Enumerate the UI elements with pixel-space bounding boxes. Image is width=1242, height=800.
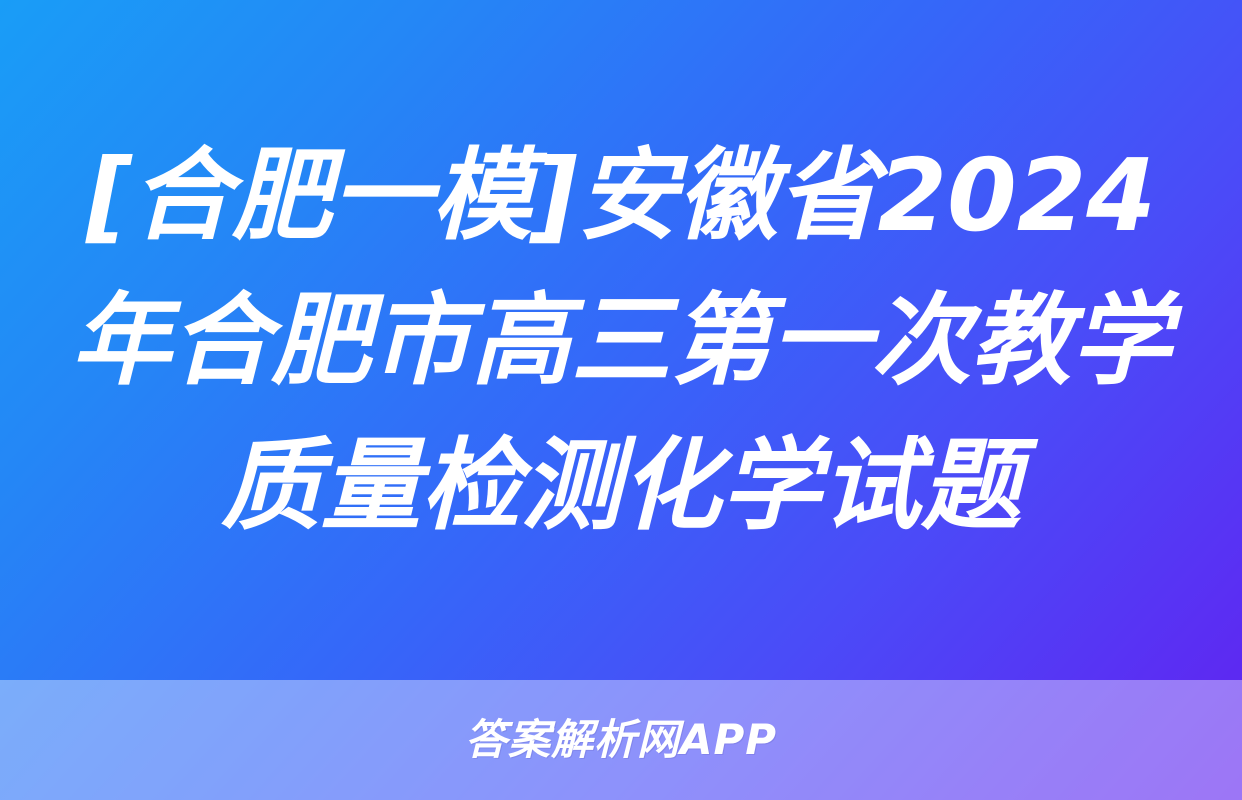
page-title-line-3: 质量检测化学试题 [70,413,1172,558]
page-title: [合肥一模]安徽省2024 年合肥市高三第一次教学 质量检测化学试题 [0,0,1242,680]
exam-title-card: [合肥一模]安徽省2024 年合肥市高三第一次教学 质量检测化学试题 答案解析网… [0,0,1242,800]
watermark-band: 答案解析网APP [0,680,1242,800]
app-watermark-label: 答案解析网APP [465,719,777,761]
page-title-line-1: [合肥一模]安徽省2024 [70,123,1172,268]
page-title-line-2: 年合肥市高三第一次教学 [70,268,1172,413]
